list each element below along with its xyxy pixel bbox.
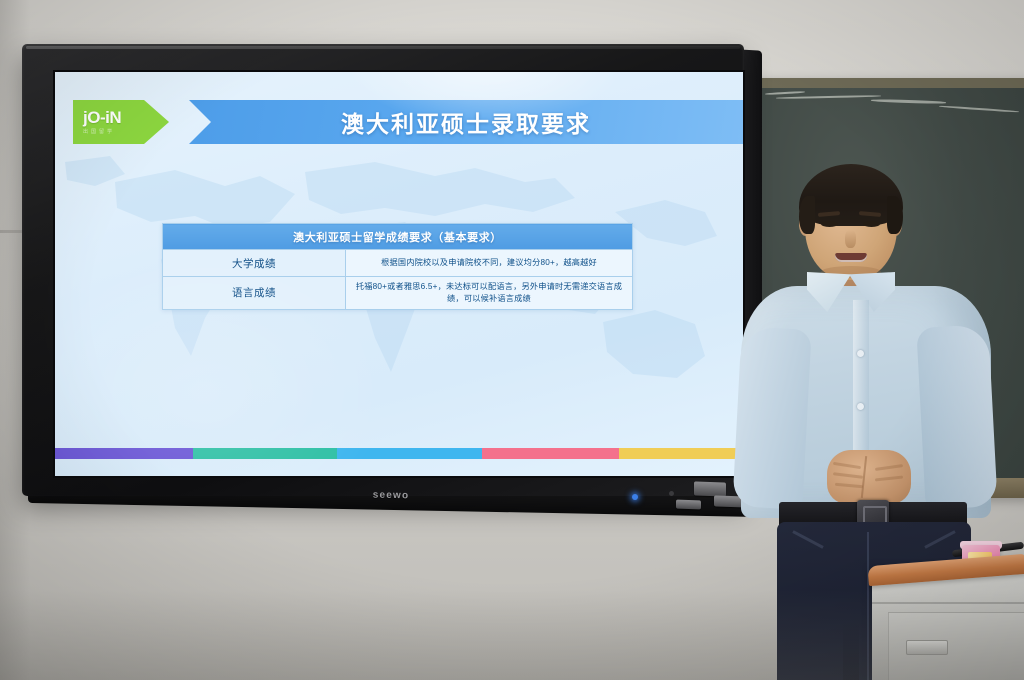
slide-footer-colorbar (55, 448, 743, 459)
chalk-mark (871, 99, 946, 104)
panel-screen[interactable]: jO-iN 出国留学 澳大利亚硕士录取要求 澳大利亚硕士留学成绩要求（基本要求）… (55, 72, 743, 476)
colorbar-segment-purple (55, 448, 193, 459)
table-row-value: 托福80+或者雅思6.5+，未达标可以配语言，另外申请时无需递交语言成绩，可以候… (346, 277, 633, 310)
table-row-value: 根据国内院校以及申请院校不同，建议均分80+，越高越好 (346, 250, 633, 277)
chalk-mark (765, 91, 805, 95)
table-row: 语言成绩 托福80+或者雅思6.5+，未达标可以配语言，另外申请时无需递交语言成… (163, 277, 633, 310)
table-header-row: 澳大利亚硕士留学成绩要求（基本要求） (163, 224, 633, 250)
hair-side-left (799, 196, 815, 234)
colorbar-segment-pink (482, 448, 620, 459)
bezel-port[interactable] (694, 481, 726, 496)
floor-shadow (0, 590, 1024, 680)
ir-sensor-icon (669, 491, 674, 496)
slide-title: 澳大利亚硕士录取要求 (341, 105, 591, 139)
slide-header: jO-iN 出国留学 澳大利亚硕士录取要求 (55, 96, 743, 148)
interactive-flat-panel[interactable]: jO-iN 出国留学 澳大利亚硕士录取要求 澳大利亚硕士留学成绩要求（基本要求）… (22, 44, 744, 496)
brand-logo-text: jO-iN (83, 109, 121, 126)
colorbar-segment-blue (337, 448, 481, 459)
table-row-label: 大学成绩 (163, 250, 346, 277)
brand-logo-subtext: 出国留学 (83, 128, 115, 135)
seewo-brand-logo: seewo (359, 487, 423, 502)
colorbar-segment-teal (193, 448, 337, 459)
brand-logo: jO-iN 出国留学 (73, 100, 169, 144)
bezel-highlight (26, 46, 740, 49)
shirt-button (857, 350, 864, 357)
shirt-button (857, 403, 864, 410)
mouth (835, 253, 867, 262)
presentation-slide: jO-iN 出国留学 澳大利亚硕士录取要求 澳大利亚硕士留学成绩要求（基本要求）… (55, 72, 743, 476)
hair-side-right (887, 196, 903, 234)
colorbar-segment-yellow (619, 448, 743, 459)
classroom-scene: jO-iN 出国留学 澳大利亚硕士录取要求 澳大利亚硕士留学成绩要求（基本要求）… (0, 0, 1024, 680)
bezel-port[interactable] (676, 500, 701, 510)
table-row-label: 语言成绩 (163, 277, 346, 310)
chalk-mark (776, 95, 881, 99)
sleeve-left (732, 326, 811, 509)
requirements-table: 澳大利亚硕士留学成绩要求（基本要求） 大学成绩 根据国内院校以及申请院校不同，建… (162, 223, 633, 310)
sleeve-right (916, 324, 997, 510)
table-row: 大学成绩 根据国内院校以及申请院校不同，建议均分80+，越高越好 (163, 250, 633, 277)
power-led-indicator (632, 494, 638, 500)
eye-right (863, 221, 880, 227)
table-header-cell: 澳大利亚硕士留学成绩要求（基本要求） (163, 224, 633, 250)
chalk-mark (939, 105, 1019, 113)
slide-title-band: 澳大利亚硕士录取要求 (163, 100, 743, 144)
nose (845, 230, 856, 248)
eye-left (821, 221, 838, 227)
